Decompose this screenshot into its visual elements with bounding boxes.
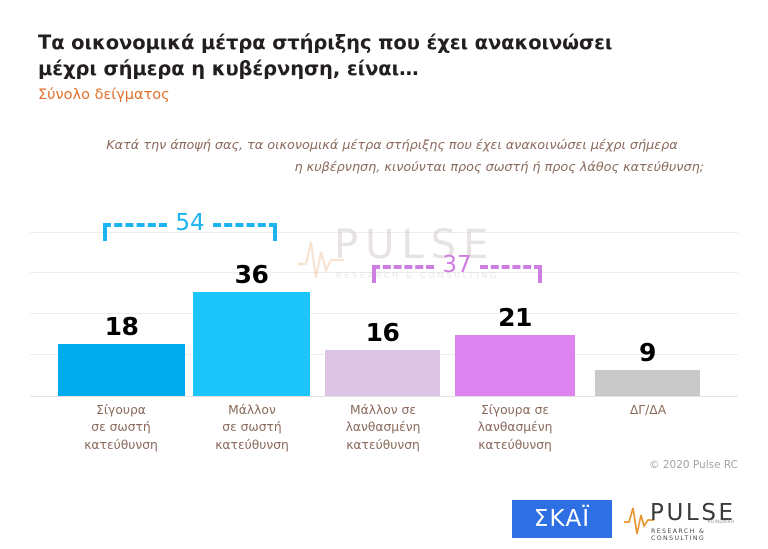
- pulse-logo: PULSE ΚΟΙΝΩΝΙΚΗ RESEARCH & CONSULTING: [624, 498, 742, 542]
- page-title: Τα οικονομικά μέτρα στήριξης που έχει αν…: [38, 30, 658, 82]
- category-label-line: Σίγουρα σε: [448, 402, 582, 419]
- category-label-1: Μάλλονσε σωστήκατεύθυνση: [186, 402, 318, 454]
- page-subtitle: Σύνολο δείγματος: [38, 87, 658, 104]
- category-label-line: κατεύθυνση: [448, 437, 582, 454]
- category-label-line: ΔΓ/ΔΑ: [592, 402, 704, 419]
- skai-logo-text: ΣΚΑΪ: [534, 506, 590, 532]
- category-label-line: Μάλλον: [186, 402, 318, 419]
- bar-value-4: 9: [595, 338, 700, 367]
- bar-0: [58, 344, 185, 396]
- pulse-logo-tagline: RESEARCH & CONSULTING: [651, 528, 742, 542]
- bar-value-0: 18: [58, 312, 185, 341]
- page-title-line-1: Τα οικονομικά μέτρα στήριξης που έχει αν…: [38, 30, 658, 56]
- category-label-line: σε σωστή: [186, 419, 318, 436]
- bar-2: [325, 350, 440, 396]
- bar-value-3: 21: [455, 303, 575, 332]
- category-label-line: κατεύθυνση: [52, 437, 190, 454]
- bracket-annotation-37: 37: [372, 265, 542, 283]
- copyright-notice: © 2020 Pulse RC: [649, 459, 738, 471]
- bracket-label-54: 54: [103, 210, 277, 236]
- page-title-line-2: μέχρι σήμερα η κυβέρνηση, είναι…: [38, 56, 658, 82]
- survey-question: Κατά την άποψή σας, τα οικονομικά μέτρα …: [72, 135, 712, 180]
- bar-value-2: 16: [325, 318, 440, 347]
- survey-question-line-1: Κατά την άποψή σας, τα οικονομικά μέτρα …: [72, 135, 712, 157]
- category-label-line: Σίγουρα: [52, 402, 190, 419]
- survey-question-line-2: η κυβέρνηση, κινούνται προς σωστή ή προς…: [72, 157, 712, 179]
- bracket-annotation-54: 54: [103, 223, 277, 241]
- category-axis-labels: Σίγουρασε σωστήκατεύθυνση Μάλλονσε σωστή…: [0, 402, 768, 462]
- pulse-logo-tiny: ΚΟΙΝΩΝΙΚΗ: [708, 519, 734, 524]
- category-label-line: κατεύθυνση: [186, 437, 318, 454]
- category-label-3: Σίγουρα σελανθασμένηκατεύθυνση: [448, 402, 582, 454]
- category-label-2: Μάλλον σελανθασμένηκατεύθυνση: [318, 402, 448, 454]
- category-label-line: λανθασμένη: [318, 419, 448, 436]
- bar-4: [595, 370, 700, 396]
- category-label-line: σε σωστή: [52, 419, 190, 436]
- poll-chart-page: { "header": { "title_line1": "Τα οικονομ…: [0, 0, 768, 549]
- bar-value-1: 36: [193, 260, 310, 289]
- chart-header: Τα οικονομικά μέτρα στήριξης που έχει αν…: [38, 30, 658, 104]
- bracket-label-37: 37: [372, 252, 542, 278]
- category-label-line: Μάλλον σε: [318, 402, 448, 419]
- bar-chart: PULSE RESEARCH & CONSULTING 18 36 16 21 …: [0, 212, 768, 397]
- skai-logo: ΣΚΑΪ: [512, 500, 612, 538]
- axis-baseline: [30, 396, 738, 397]
- category-label-4: ΔΓ/ΔΑ: [592, 402, 704, 419]
- bar-3: [455, 335, 575, 396]
- category-label-0: Σίγουρασε σωστήκατεύθυνση: [52, 402, 190, 454]
- category-label-line: λανθασμένη: [448, 419, 582, 436]
- footer-logos: ΣΚΑΪ PULSE ΚΟΙΝΩΝΙΚΗ RESEARCH & CONSULTI…: [0, 496, 768, 549]
- bar-1: [193, 292, 310, 396]
- category-label-line: κατεύθυνση: [318, 437, 448, 454]
